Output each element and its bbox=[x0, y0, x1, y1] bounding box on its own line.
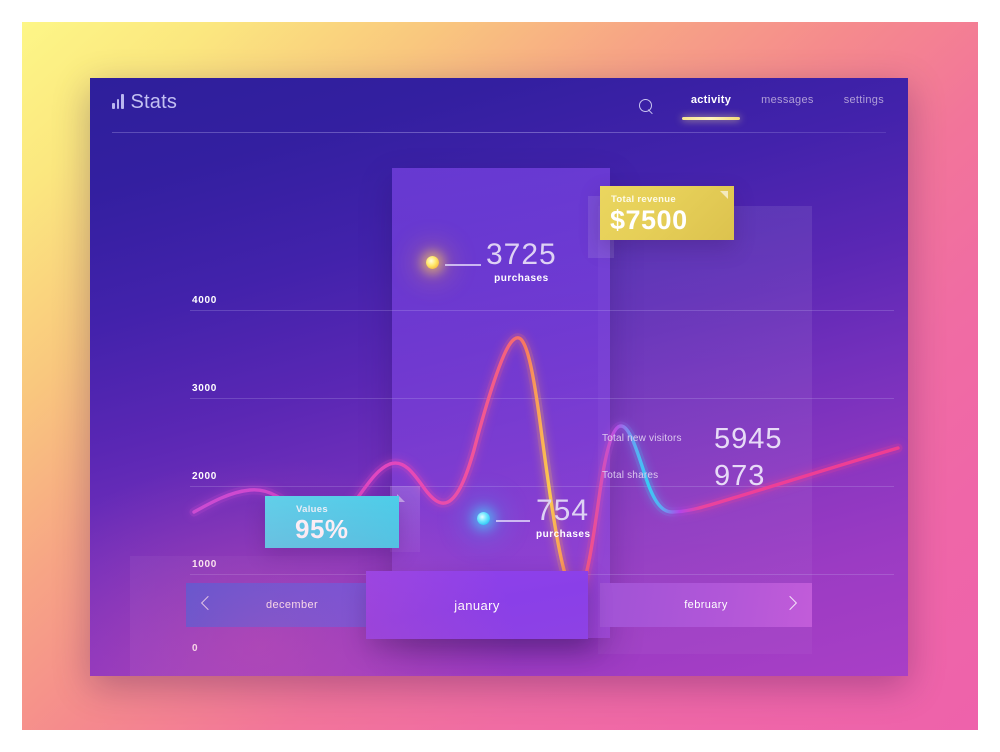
values-card[interactable]: Values 95% bbox=[265, 496, 399, 548]
month-navigation: december february january bbox=[186, 583, 812, 627]
shares-label: Total shares bbox=[602, 470, 658, 481]
trough-leader-line bbox=[496, 520, 530, 522]
total-revenue-card[interactable]: Total revenue $7500 bbox=[600, 186, 734, 240]
triangle-corner-icon bbox=[720, 191, 728, 199]
screenshot-stage: Stats activity messages settings 4000 30… bbox=[0, 0, 1000, 752]
month-current-button[interactable]: january bbox=[366, 571, 588, 639]
stat-row: Total new visitors 5945 bbox=[602, 423, 832, 460]
side-statistics: Total new visitors 5945 Total shares 973 bbox=[602, 423, 832, 497]
revenue-label: Total revenue bbox=[611, 194, 676, 205]
month-next-label: february bbox=[684, 599, 728, 611]
shares-value: 973 bbox=[714, 460, 765, 492]
month-prev-label: december bbox=[266, 599, 318, 611]
peak-data-point[interactable] bbox=[426, 256, 439, 269]
revenue-value: $7500 bbox=[610, 206, 688, 234]
chevron-left-icon[interactable] bbox=[201, 596, 215, 610]
chevron-right-icon[interactable] bbox=[783, 596, 797, 610]
stat-row: Total shares 973 bbox=[602, 460, 832, 497]
month-current-label: january bbox=[454, 598, 499, 613]
values-value: 95% bbox=[295, 515, 349, 543]
dashboard-panel: Stats activity messages settings 4000 30… bbox=[90, 78, 908, 676]
visitors-value: 5945 bbox=[714, 423, 783, 455]
peak-leader-line bbox=[445, 264, 481, 266]
trough-data-point[interactable] bbox=[477, 512, 490, 525]
month-next-button[interactable]: february bbox=[600, 583, 812, 627]
visitors-label: Total new visitors bbox=[602, 433, 682, 444]
